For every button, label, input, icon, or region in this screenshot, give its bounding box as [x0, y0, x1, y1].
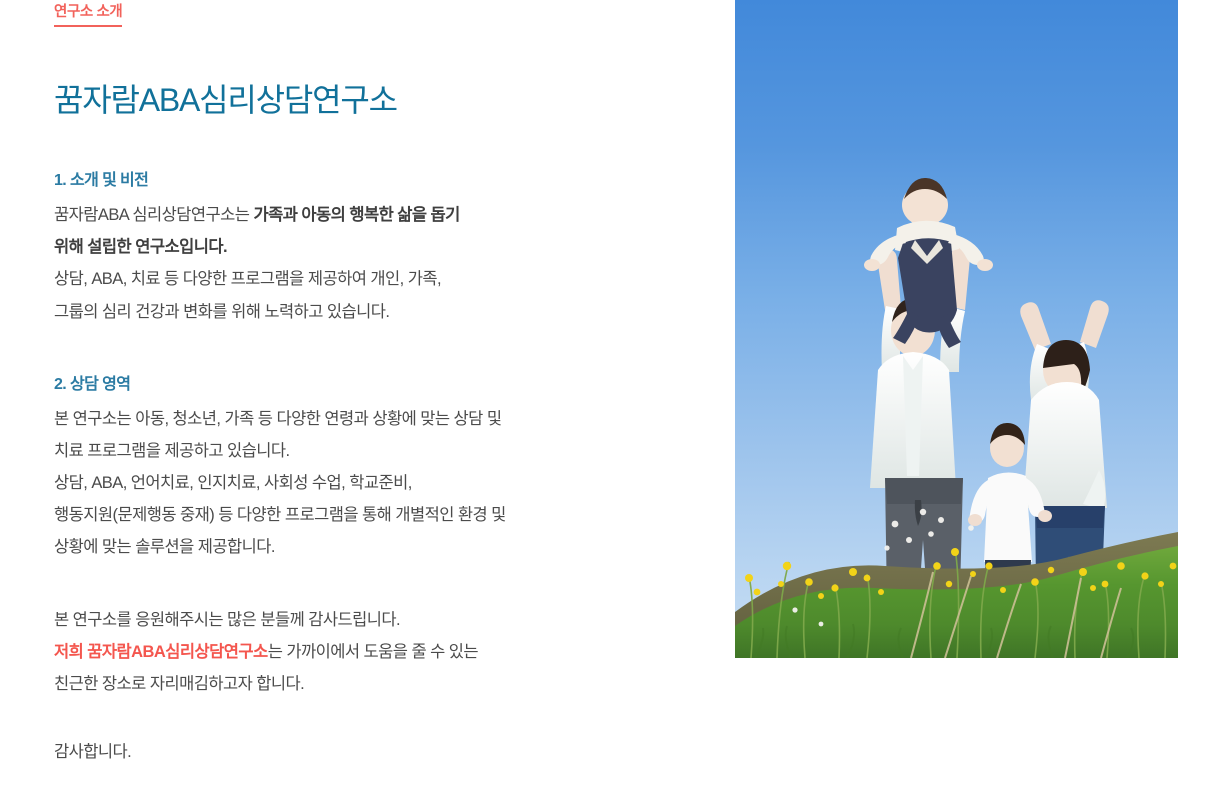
paragraph-line: 상담, ABA, 언어치료, 인지치료, 사회성 수업, 학교준비,	[54, 467, 694, 499]
page-title: 꿈자람ABA심리상담연구소	[54, 80, 694, 120]
breadcrumb-label[interactable]: 연구소 소개	[54, 2, 122, 27]
breadcrumb: 연구소 소개	[54, 0, 694, 30]
paragraph-line: 치료 프로그램을 제공하고 있습니다.	[54, 435, 694, 467]
thanks-line: 감사합니다.	[54, 736, 694, 768]
text-bold: 위해 설립한 연구소입니다.	[54, 238, 227, 256]
paragraph-line: 위해 설립한 연구소입니다.	[54, 231, 694, 263]
page-root: 연구소 소개 꿈자람ABA심리상담연구소 1. 소개 및 비전 꿈자람ABA 심…	[0, 0, 1230, 795]
section-intro-vision: 1. 소개 및 비전 꿈자람ABA 심리상담연구소는 가족과 아동의 행복한 삶…	[54, 166, 694, 328]
paragraph-line: 상황에 맞는 솔루션을 제공합니다.	[54, 531, 694, 563]
paragraph-line: 본 연구소를 응원해주시는 많은 분들께 감사드립니다.	[54, 604, 694, 636]
section-2-body: 본 연구소는 아동, 청소년, 가족 등 다양한 연령과 상황에 맞는 상담 및…	[54, 403, 694, 564]
text-plain: 는 가까이에서 도움을 줄 수 있는	[268, 643, 478, 661]
section-counseling-areas: 2. 상담 영역 본 연구소는 아동, 청소년, 가족 등 다양한 연령과 상황…	[54, 370, 694, 564]
paragraph-line: 상담, ABA, 치료 등 다양한 프로그램을 제공하여 개인, 가족,	[54, 263, 694, 295]
paragraph-line: 꿈자람ABA 심리상담연구소는 가족과 아동의 행복한 삶을 돕기	[54, 199, 694, 231]
paragraph-line: 저희 꿈자람ABA심리상담연구소는 가까이에서 도움을 줄 수 있는	[54, 636, 694, 668]
content-column: 연구소 소개 꿈자람ABA심리상담연구소 1. 소개 및 비전 꿈자람ABA 심…	[54, 0, 694, 768]
text-highlight-brand: 저희 꿈자람ABA심리상담연구소	[54, 643, 268, 661]
paragraph-line: 그룹의 심리 건강과 변화를 위해 노력하고 있습니다.	[54, 296, 694, 328]
family-photo	[735, 0, 1178, 658]
section-heading-1: 1. 소개 및 비전	[54, 166, 694, 190]
text-plain: 꿈자람ABA 심리상담연구소는	[54, 206, 253, 224]
paragraph-line: 행동지원(문제행동 중재) 등 다양한 프로그램을 통해 개별적인 환경 및	[54, 499, 694, 531]
paragraph-line: 본 연구소는 아동, 청소년, 가족 등 다양한 연령과 상황에 맞는 상담 및	[54, 403, 694, 435]
family-photo-illustration	[735, 0, 1178, 658]
closing-paragraph: 본 연구소를 응원해주시는 많은 분들께 감사드립니다. 저희 꿈자람ABA심리…	[54, 604, 694, 701]
section-heading-2: 2. 상담 영역	[54, 370, 694, 394]
text-bold: 가족과 아동의 행복한 삶을 돕기	[253, 206, 459, 224]
section-1-body: 꿈자람ABA 심리상담연구소는 가족과 아동의 행복한 삶을 돕기 위해 설립한…	[54, 199, 694, 328]
paragraph-line: 친근한 장소로 자리매김하고자 합니다.	[54, 668, 694, 700]
